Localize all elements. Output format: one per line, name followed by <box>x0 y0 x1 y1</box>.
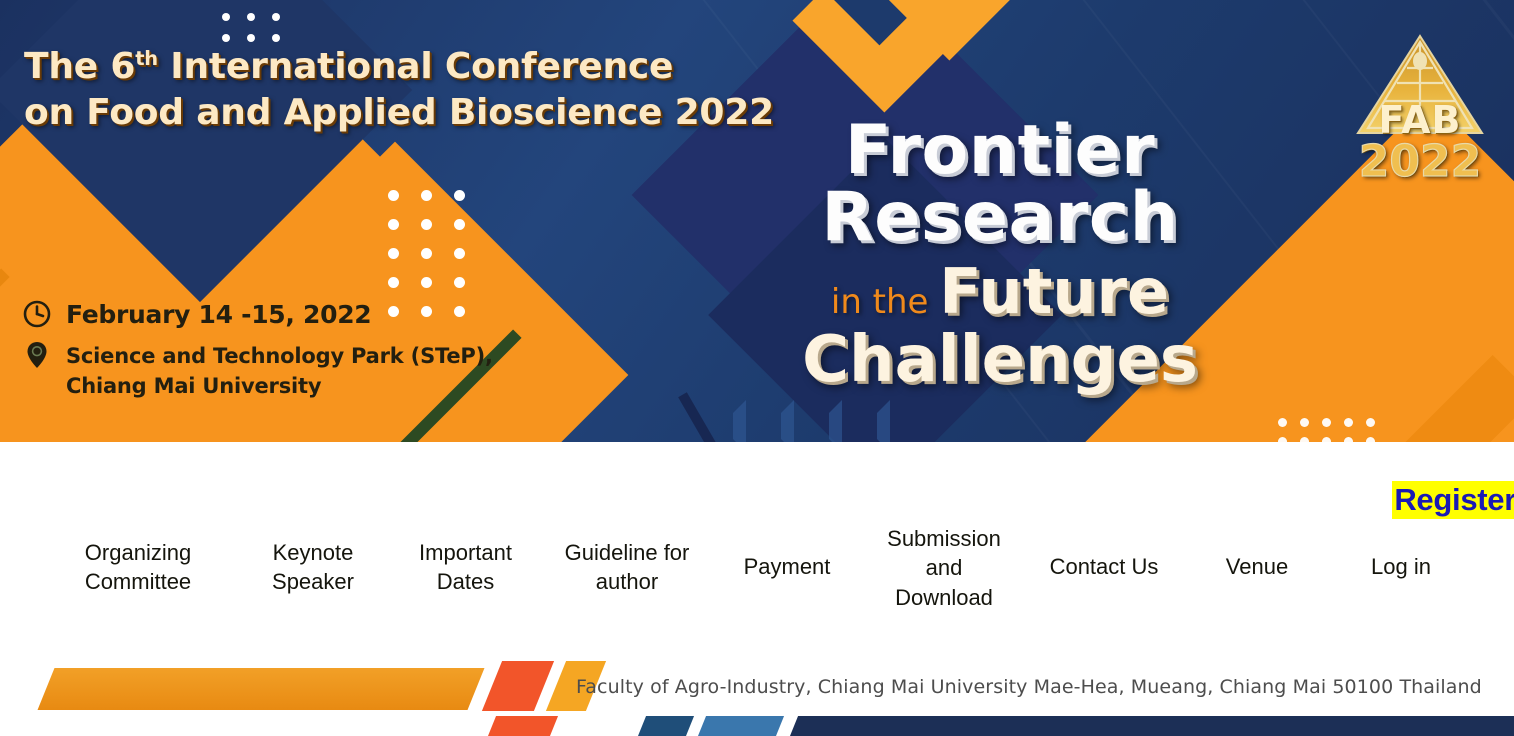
register-link[interactable]: Register <box>1392 481 1514 519</box>
decor-dot-grid-top <box>222 0 284 42</box>
fab-logo-year: 2022 <box>1340 136 1500 187</box>
fab-logo: FAB 2022 <box>1340 28 1500 178</box>
nav-item-submission-download[interactable]: Submission and Download <box>863 524 1025 612</box>
conference-title-line2: on Food and Applied Bioscience 2022 <box>24 90 774 136</box>
nav-item-keynote-speaker[interactable]: Keynote Speaker <box>238 538 388 597</box>
conference-title-prefix: The 6 <box>24 46 135 87</box>
decor-chevron-3 <box>816 400 842 442</box>
event-venue-line2: Chiang Mai University <box>66 374 321 398</box>
event-venue-line1: Science and Technology Park (STeP), <box>66 344 493 368</box>
decor-dot-grid-left <box>388 190 470 317</box>
nav-item-payment[interactable]: Payment <box>711 538 863 581</box>
nav-item-venue[interactable]: Venue <box>1183 538 1331 581</box>
map-pin-icon <box>22 340 52 370</box>
nav-item-organizing-committee[interactable]: Organizing Committee <box>38 538 238 597</box>
nav-item-contact-us[interactable]: Contact Us <box>1025 538 1183 581</box>
conference-title-line1: The 6th International Conference <box>24 44 774 90</box>
event-date-row: February 14 -15, 2022 <box>22 300 493 329</box>
conference-banner: The 6th International Conference on Food… <box>0 0 1514 442</box>
footer-address: Faculty of Agro-Industry, Chiang Mai Uni… <box>576 676 1482 698</box>
site-footer: Faculty of Agro-Industry, Chiang Mai Uni… <box>0 654 1514 736</box>
banner-tagline: Frontier Research in the Future Challeng… <box>690 118 1310 394</box>
clock-icon <box>22 299 52 329</box>
footer-bar-red <box>482 661 554 711</box>
footer-bar-dark-navy <box>786 716 1514 736</box>
nav-area: Register Organizing Committee Keynote Sp… <box>0 442 1514 654</box>
tagline-line-1: Frontier Research <box>690 118 1310 251</box>
decor-chevron-2 <box>768 400 794 442</box>
event-info: February 14 -15, 2022 Science and Techno… <box>22 300 493 402</box>
main-navigation: Organizing Committee Keynote Speaker Imp… <box>0 538 1514 612</box>
conference-title-ordinal: th <box>135 47 158 70</box>
tagline-line-2-small: in the <box>831 282 939 322</box>
event-venue: Science and Technology Park (STeP), Chia… <box>66 341 493 402</box>
nav-item-important-dates[interactable]: Important Dates <box>388 538 543 597</box>
page-root: The 6th International Conference on Food… <box>0 0 1514 736</box>
event-venue-row: Science and Technology Park (STeP), Chia… <box>22 341 493 402</box>
decor-chevron-1 <box>720 400 746 442</box>
tagline-line-2: in the Future <box>690 261 1310 323</box>
tagline-line-3: Challenges <box>690 327 1310 394</box>
footer-bar-orange-large <box>38 668 485 710</box>
footer-bar-navy <box>634 716 694 736</box>
conference-title: The 6th International Conference on Food… <box>24 44 774 135</box>
event-date: February 14 -15, 2022 <box>66 300 371 329</box>
footer-bar-blue <box>694 716 784 736</box>
tagline-line-2-big: Future <box>939 255 1169 328</box>
footer-bar-red-2 <box>484 716 558 736</box>
nav-item-log-in[interactable]: Log in <box>1331 538 1471 581</box>
decor-dot-grid-right <box>1278 418 1375 442</box>
nav-item-guideline-for-author[interactable]: Guideline for author <box>543 538 711 597</box>
conference-title-rest: International Conference <box>158 46 673 87</box>
decor-chevron-4 <box>864 400 890 442</box>
